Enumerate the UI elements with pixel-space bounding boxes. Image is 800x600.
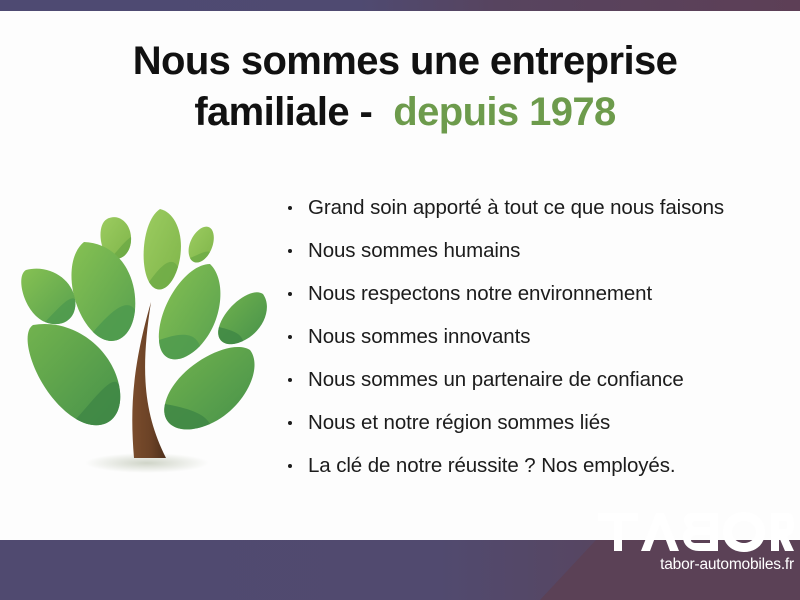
title-line-2-plain: familiale - — [194, 90, 372, 134]
title-line-2: familiale - depuis 1978 — [60, 87, 750, 138]
list-item-label: Nous sommes innovants — [308, 325, 530, 348]
bullet-dot-icon — [288, 464, 292, 468]
list-item: Nous et notre région sommes liés — [286, 408, 786, 451]
brand-logo[interactable]: tabor-automobiles.fr — [540, 506, 800, 600]
leaf-far-left — [21, 269, 75, 324]
bullet-dot-icon — [288, 335, 292, 339]
page-title: Nous sommes une entreprise familiale - d… — [60, 36, 750, 138]
list-item-label: Nous respectons notre environnement — [308, 282, 652, 305]
list-item-label: Nous sommes humains — [308, 239, 520, 262]
list-item: Nous sommes un partenaire de confiance — [286, 365, 786, 408]
leaf-top-center — [144, 209, 181, 289]
value-proposition-list: Grand soin apporté à tout ce que nous fa… — [286, 193, 786, 494]
title-line-1: Nous sommes une entreprise — [60, 36, 750, 87]
list-item: Nous sommes innovants — [286, 322, 786, 365]
list-item: Nous respectons notre environnement — [286, 279, 786, 322]
tabor-wordmark-logo — [598, 511, 794, 553]
list-item-label: Nous sommes un partenaire de confiance — [308, 368, 684, 391]
logo-website-url[interactable]: tabor-automobiles.fr — [598, 556, 794, 574]
list-item-label: La clé de notre réussite ? Nos employés. — [308, 454, 675, 477]
bullet-dot-icon — [288, 378, 292, 382]
bullet-dot-icon — [288, 206, 292, 210]
bullet-dot-icon — [288, 292, 292, 296]
bullet-dot-icon — [288, 249, 292, 253]
leaf-lower-right — [164, 347, 254, 429]
list-item: Grand soin apporté à tout ce que nous fa… — [286, 193, 786, 236]
list-item: La clé de notre réussite ? Nos employés. — [286, 451, 786, 494]
leaf-right-small — [218, 292, 267, 344]
list-item: Nous sommes humains — [286, 236, 786, 279]
leaf-top-right-small — [189, 227, 214, 263]
top-accent-bar — [0, 0, 800, 11]
bullet-dot-icon — [288, 421, 292, 425]
leaf-upper-left — [71, 242, 135, 341]
slide-canvas: Nous sommes une entreprise familiale - d… — [0, 0, 800, 600]
list-item-label: Grand soin apporté à tout ce que nous fa… — [308, 196, 724, 219]
list-item-label: Nous et notre région sommes liés — [308, 411, 610, 434]
title-line-2-accent: depuis 1978 — [393, 90, 615, 134]
tree-illustration — [14, 182, 280, 488]
